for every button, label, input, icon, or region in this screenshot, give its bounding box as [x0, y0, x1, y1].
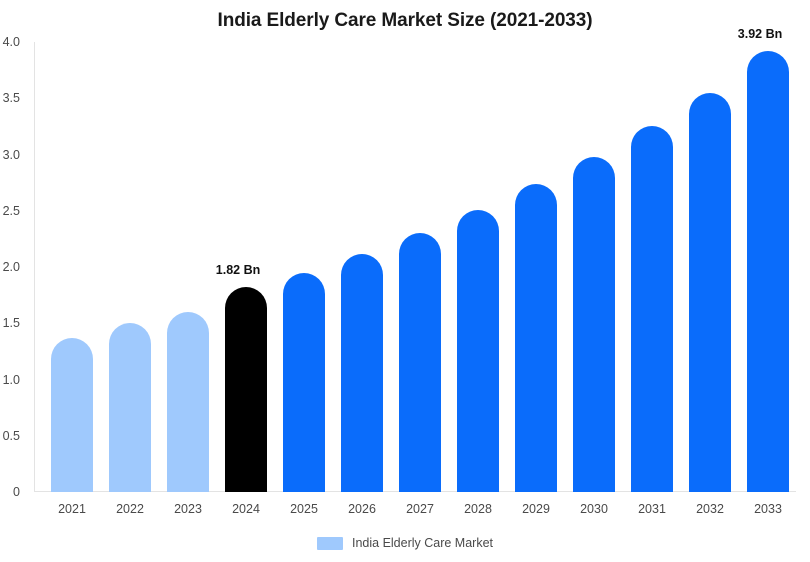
- y-axis-tick-label: 2.5: [0, 204, 20, 218]
- x-axis-tick-label: 2031: [623, 502, 681, 516]
- legend-swatch[interactable]: [317, 537, 343, 550]
- bar-slot: [623, 42, 681, 492]
- x-axis-tick-label: 2032: [681, 502, 739, 516]
- bar-2021[interactable]: [51, 338, 93, 492]
- bar-slot: [565, 42, 623, 492]
- bar-slot: [101, 42, 159, 492]
- bar-slot: [391, 42, 449, 492]
- bar-slot: [275, 42, 333, 492]
- bar-slot: 3.92 Bn: [739, 42, 797, 492]
- bar-slot: [507, 42, 565, 492]
- bar-2033[interactable]: [747, 51, 789, 492]
- bar-slot: 1.82 Bn: [217, 42, 275, 492]
- y-axis-tick-label: 1.0: [0, 373, 20, 387]
- x-axis-tick-label: 2021: [43, 502, 101, 516]
- x-axis-tick-label: 2027: [391, 502, 449, 516]
- x-axis-tick-label: 2025: [275, 502, 333, 516]
- bar-2027[interactable]: [399, 233, 441, 492]
- bar-slot: [333, 42, 391, 492]
- y-axis-tick-label: 0.5: [0, 429, 20, 443]
- bar-2032[interactable]: [689, 93, 731, 492]
- x-axis-tick-label: 2026: [333, 502, 391, 516]
- bar-value-label: 3.92 Bn: [719, 27, 801, 41]
- plot-area: 1.82 Bn3.92 Bn: [34, 42, 796, 492]
- bar-2031[interactable]: [631, 126, 673, 492]
- legend-label[interactable]: India Elderly Care Market: [352, 536, 493, 550]
- x-axis-tick-label: 2029: [507, 502, 565, 516]
- bar-slot: [681, 42, 739, 492]
- bar-value-label: 1.82 Bn: [197, 263, 279, 277]
- bar-2030[interactable]: [573, 157, 615, 492]
- bar-2024[interactable]: [225, 287, 267, 492]
- y-axis-tick-label: 2.0: [0, 260, 20, 274]
- bar-2022[interactable]: [109, 323, 151, 492]
- bar-2028[interactable]: [457, 210, 499, 492]
- y-axis-tick-label: 1.5: [0, 316, 20, 330]
- chart-container: India Elderly Care Market Size (2021-203…: [0, 0, 810, 562]
- bar-2023[interactable]: [167, 312, 209, 492]
- y-axis-tick-label: 3.0: [0, 148, 20, 162]
- bars-layer: 1.82 Bn3.92 Bn: [34, 42, 796, 492]
- x-axis-tick-label: 2024: [217, 502, 275, 516]
- x-axis-tick-label: 2033: [739, 502, 797, 516]
- x-axis-tick-label: 2023: [159, 502, 217, 516]
- y-axis-tick-label: 0: [0, 485, 20, 499]
- chart-title: India Elderly Care Market Size (2021-203…: [0, 10, 810, 32]
- bar-2029[interactable]: [515, 184, 557, 492]
- y-axis-tick-label: 3.5: [0, 91, 20, 105]
- x-axis-tick-label: 2022: [101, 502, 159, 516]
- chart-legend: India Elderly Care Market: [0, 536, 810, 550]
- bar-2025[interactable]: [283, 273, 325, 492]
- x-axis-tick-label: 2028: [449, 502, 507, 516]
- bar-slot: [449, 42, 507, 492]
- bar-2026[interactable]: [341, 254, 383, 493]
- bar-slot: [43, 42, 101, 492]
- y-axis-tick-label: 4.0: [0, 35, 20, 49]
- x-axis-tick-label: 2030: [565, 502, 623, 516]
